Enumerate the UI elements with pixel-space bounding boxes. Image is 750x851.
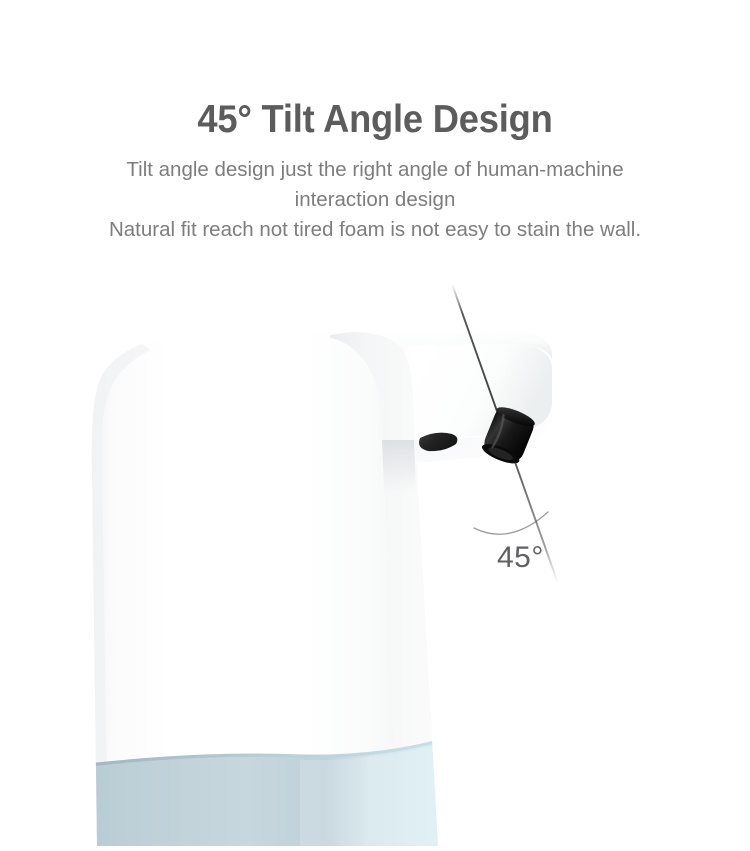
head-soffit — [386, 418, 548, 462]
reservoir-liquid — [80, 738, 452, 851]
page-title: 45° Tilt Angle Design — [26, 94, 724, 146]
reservoir-meniscus — [80, 738, 450, 766]
tilt-angle-line — [452, 284, 578, 640]
angle-arc — [474, 512, 548, 534]
nozzle-outlet-inner — [487, 445, 514, 463]
body-left-edge — [92, 344, 150, 846]
nozzle-icon — [479, 403, 537, 467]
page-description: Tilt angle design just the right angle o… — [0, 155, 750, 245]
nozzle-top-rim — [494, 403, 537, 429]
angle-label: 45° — [497, 543, 544, 573]
sensor-icon — [419, 433, 457, 451]
body-front — [92, 332, 438, 846]
description-line-3: Natural fit reach not tired foam is not … — [0, 215, 750, 245]
nozzle-outlet — [480, 440, 522, 467]
description-line-1: Tilt angle design just the right angle o… — [0, 155, 750, 185]
head-neck — [352, 334, 414, 470]
overhang-shadow — [382, 440, 416, 492]
product-feature-page: 45° Tilt Angle Design Tilt angle design … — [0, 0, 750, 851]
nozzle-highlight — [491, 415, 507, 448]
description-line-2: interaction design — [0, 185, 750, 215]
nozzle-barrel — [481, 408, 535, 463]
reservoir — [80, 738, 452, 851]
head-top-surface — [352, 332, 552, 360]
head-front-band — [363, 344, 552, 440]
reservoir-highlight — [300, 742, 452, 851]
body-right-fold — [330, 332, 438, 846]
